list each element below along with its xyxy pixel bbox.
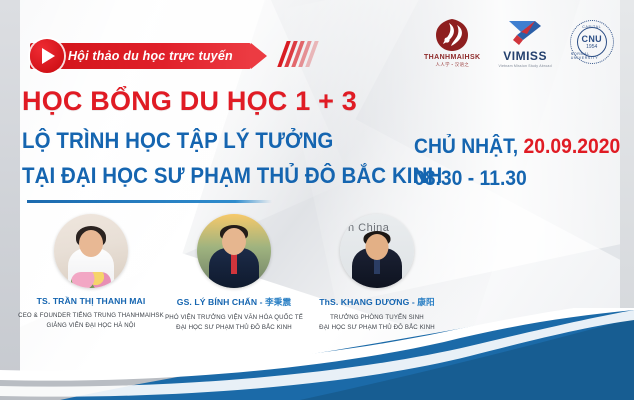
- webinar-badge: Hội thảo du học trực tuyến: [30, 41, 251, 71]
- speaker-name-text: ThS. KHANG DƯƠNG -: [319, 297, 417, 307]
- event-date-value: 20.09.2020: [523, 135, 620, 158]
- badge-label: Hội thảo du học trực tuyến: [68, 49, 233, 63]
- speaker-name: TS. TRẦN THỊ THANH MAI: [37, 296, 146, 306]
- footer-wave-decoration: [0, 308, 634, 400]
- headline-roadmap: LỘ TRÌNH HỌC TẬP LÝ TƯỞNG: [22, 128, 333, 154]
- vimiss-mark-icon: [505, 18, 545, 46]
- avatar: [197, 214, 271, 288]
- event-date: CHỦ NHẬT, 20.09.2020: [414, 135, 620, 159]
- thanhmaihsk-mark-icon: [435, 18, 469, 52]
- section-divider: [27, 200, 272, 203]
- avatar: [54, 214, 128, 288]
- cnu-arc-bottom: NORMAL UNIVERSITY: [571, 52, 613, 60]
- cnu-year: 1954: [586, 45, 597, 50]
- vimiss-logo: VIMISS Vietnam Mission Study Abroad: [499, 18, 552, 68]
- speaker-name: ThS. KHANG DƯƠNG - 康阳: [319, 296, 434, 308]
- speaker-name-text: TS. TRẦN THỊ THANH MAI: [37, 296, 146, 306]
- event-day-label: CHỦ NHẬT,: [414, 135, 518, 158]
- cnu-arc-top: CAPITAL: [582, 25, 601, 29]
- play-icon[interactable]: [30, 39, 64, 73]
- play-triangle: [42, 48, 55, 64]
- thanhmaihsk-wordmark: THANHMAIHSK: [424, 54, 481, 61]
- speaker-name-text: GS. LÝ BÍNH CHẤN -: [177, 297, 265, 307]
- thanhmaihsk-logo: THANHMAIHSK 人人学・汉语之: [424, 18, 481, 68]
- thanhmaihsk-subtext: 人人学・汉语之: [435, 62, 469, 68]
- speaker-name-chinese: 李秉震: [265, 297, 291, 307]
- speaker-name: GS. LÝ BÍNH CHẤN - 李秉震: [177, 296, 291, 308]
- event-time: 08.30 - 11.30: [414, 167, 527, 191]
- webinar-poster: Hội thảo du học trực tuyến HỌC BỔNG DU H…: [0, 0, 634, 400]
- vimiss-wordmark: VIMISS: [503, 49, 547, 63]
- headline-university: TẠI ĐẠI HỌC SƯ PHẠM THỦ ĐÔ BẮC KINH: [22, 163, 442, 189]
- logo-row: THANHMAIHSK 人人学・汉语之 VIMISS Vietnam Missi…: [424, 18, 614, 68]
- speaker-name-chinese: 康阳: [417, 297, 434, 307]
- headline-scholarship: HỌC BỔNG DU HỌC 1 + 3: [22, 86, 357, 117]
- avatar: n China: [340, 214, 414, 288]
- cnu-wordmark: CNU: [582, 35, 602, 44]
- cnu-logo: CAPITAL CNU 1954 NORMAL UNIVERSITY: [570, 20, 614, 64]
- vimiss-subtext: Vietnam Mission Study Abroad: [499, 64, 552, 68]
